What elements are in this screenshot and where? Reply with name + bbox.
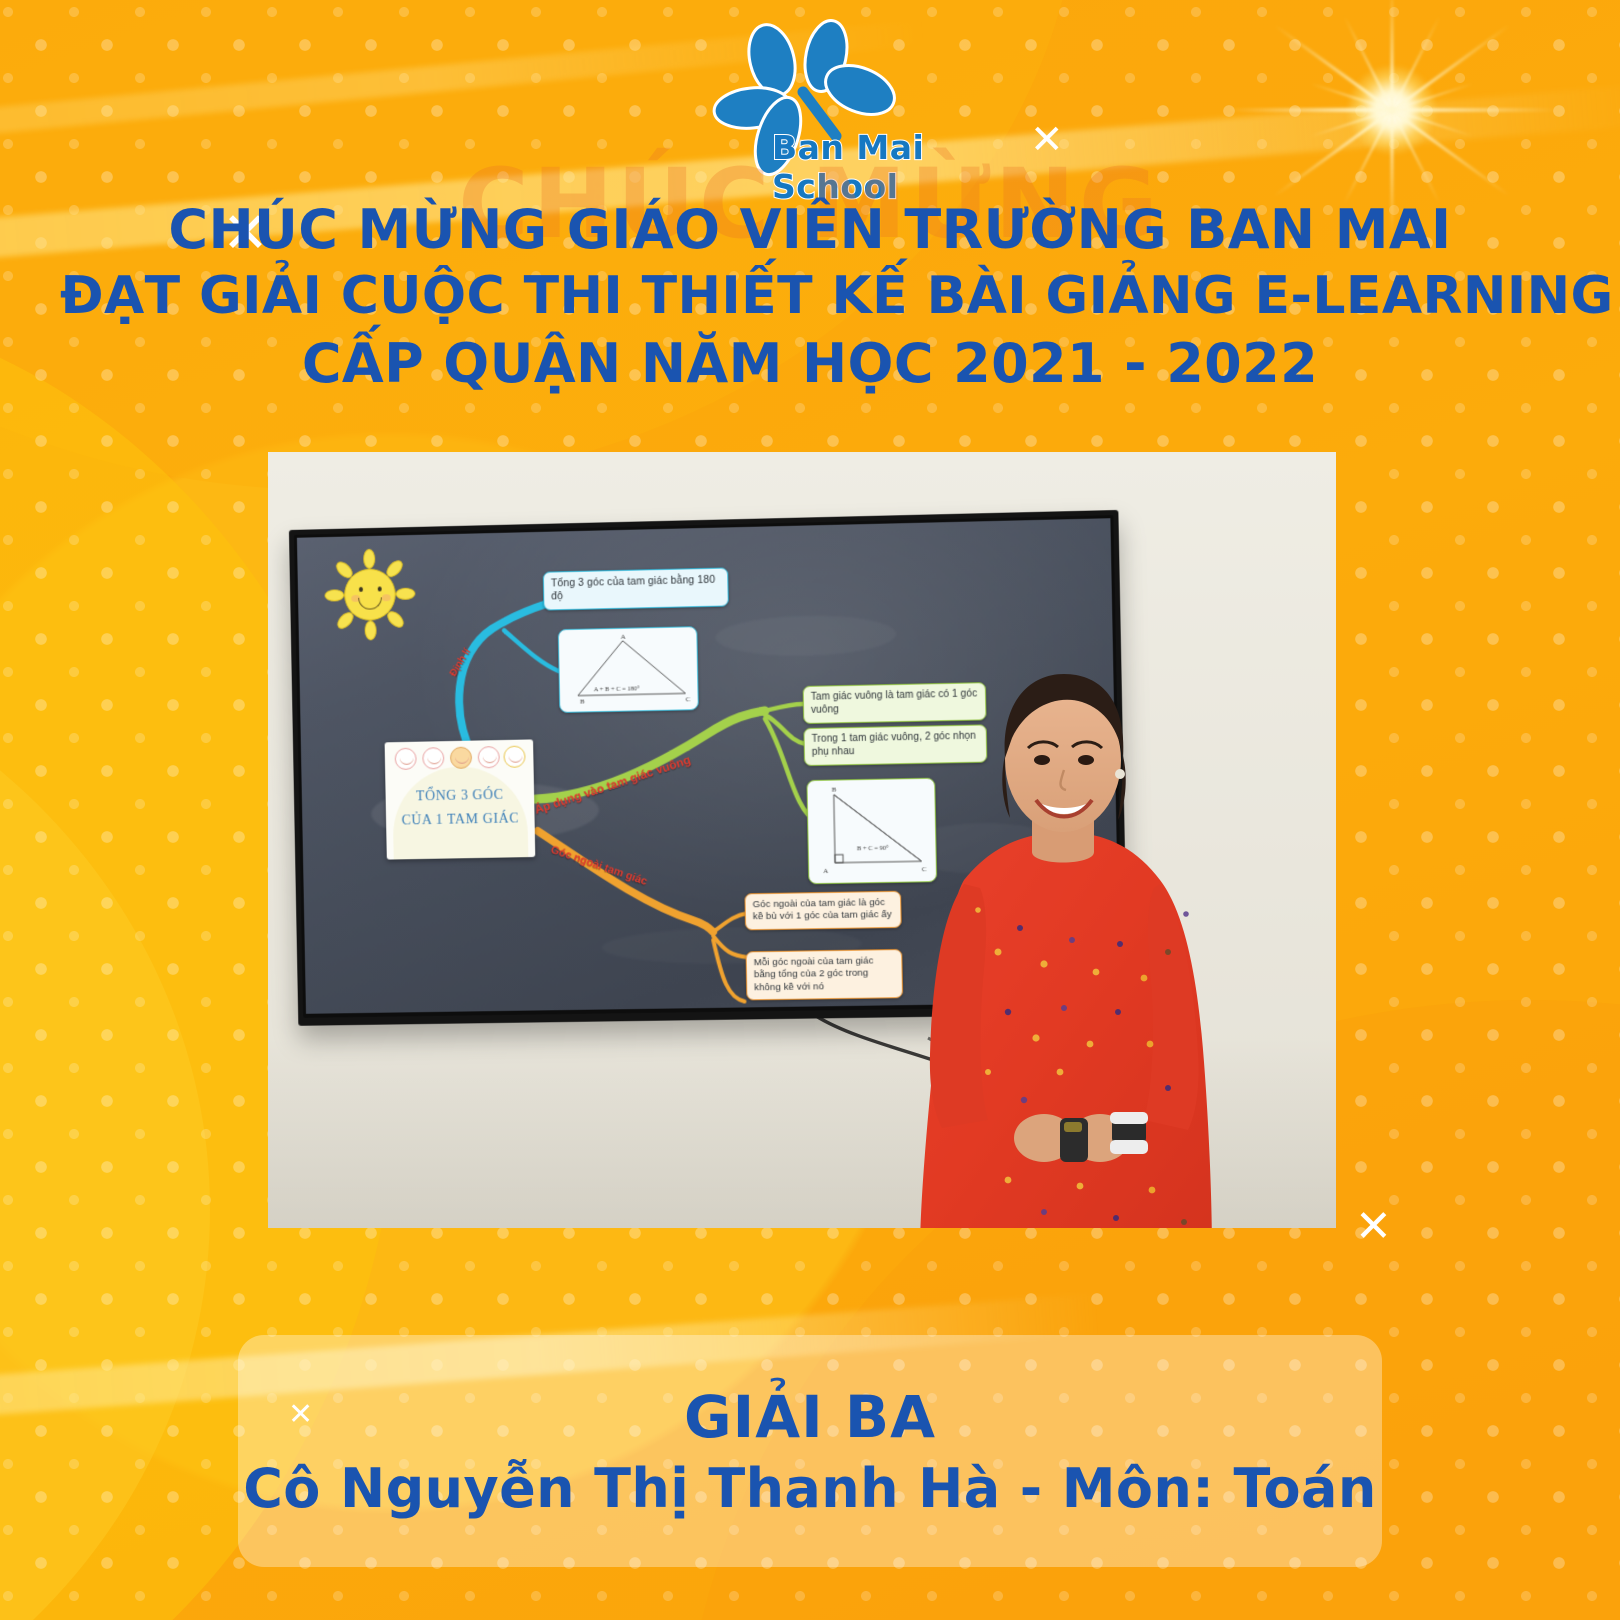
svg-text:B: B xyxy=(580,697,585,705)
prize-label: GIẢI BA xyxy=(684,1383,936,1451)
svg-text:A: A xyxy=(823,867,828,875)
center-node-line-1: TỔNG 3 GÓC xyxy=(386,787,535,806)
svg-text:A: A xyxy=(621,633,626,641)
center-node-line-2: CỦA 1 TAM GIÁC xyxy=(386,811,535,830)
background-curve-left-inner xyxy=(0,620,210,1620)
poster-canvas: Ban Mai School ✕ CHÚC MỪNG ✕ CHÚC MỪNG G… xyxy=(0,0,1620,1620)
title-line-1: CHÚC MỪNG GIÁO VIÊN TRƯỜNG BAN MAI xyxy=(60,196,1560,264)
brand-header: Ban Mai School xyxy=(0,18,1620,178)
title-line-2: ĐẠT GIẢI CUỘC THI THIẾT KẾ BÀI GIẢNG E-L… xyxy=(60,264,1560,330)
award-card: GIẢI BA Cô Nguyễn Thị Thanh Hà - Môn: To… xyxy=(238,1335,1382,1567)
event-photo: Định lí Áp dụng vào tam giác vuông Góc n… xyxy=(268,452,1336,1228)
mindmap-node-0: Tổng 3 góc của tam giác bằng 180 độ xyxy=(543,567,729,610)
ban-mai-logo: Ban Mai School xyxy=(660,18,960,178)
svg-text:C: C xyxy=(686,695,691,703)
title-line-3: CẤP QUẬN NĂM HỌC 2021 - 2022 xyxy=(60,330,1560,398)
winner-label: Cô Nguyễn Thị Thanh Hà - Môn: Toán xyxy=(243,1457,1376,1520)
svg-text:B: B xyxy=(832,785,837,793)
x-decoration-icon-card: ✕ xyxy=(288,1400,313,1430)
x-decoration-icon-top: ✕ xyxy=(1030,120,1064,160)
brand-name-text: Ban Mai School xyxy=(772,128,960,206)
teacher-portrait xyxy=(868,652,1258,1228)
figure-formula-0: A + B + C = 180° xyxy=(594,685,640,693)
figure-exterior-angle: B A C x BCx = A + B xyxy=(747,1012,873,1014)
x-decoration-icon-mid: ✕ xyxy=(1355,1205,1392,1249)
page-title: CHÚC MỪNG GIÁO VIÊN TRƯỜNG BAN MAI ĐẠT G… xyxy=(60,196,1560,398)
figure-triangle-sum: B A C A + B + C = 180° xyxy=(558,626,699,713)
mindmap-center-node: TỔNG 3 GÓC CỦA 1 TAM GIÁC xyxy=(385,739,536,859)
